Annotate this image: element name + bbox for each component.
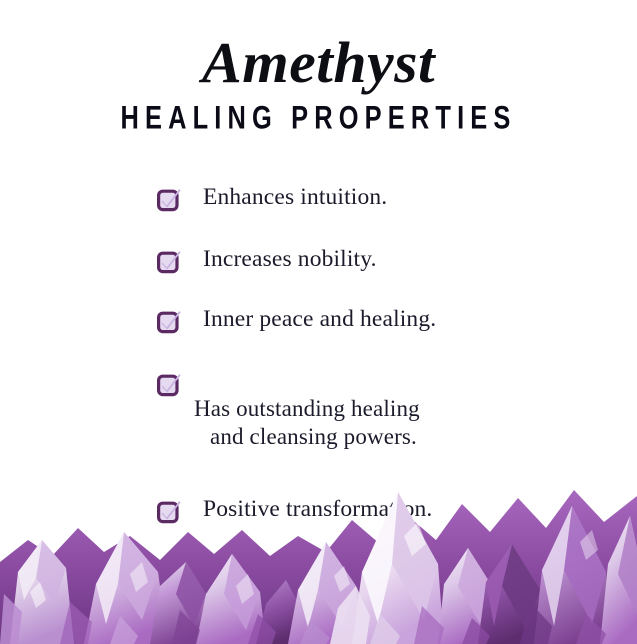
checked-checkbox-icon: [157, 372, 182, 397]
amethyst-crystal-cluster-photo: [0, 444, 637, 644]
checked-checkbox-icon: [157, 309, 182, 334]
page-subtitle: HEALING PROPERTIES: [57, 101, 579, 134]
list-item-label: Enhances intuition.: [203, 182, 387, 213]
list-item-label: Increases nobility.: [203, 244, 377, 275]
amethyst-healing-properties-poster: Amethyst HEALING PROPERTIES Enhances int…: [0, 0, 637, 644]
checked-checkbox-icon: [157, 187, 182, 212]
list-item: Increases nobility.: [0, 244, 637, 275]
list-item-label-line-1: Has outstanding healing: [194, 396, 420, 421]
list-item: Enhances intuition.: [0, 182, 637, 213]
poster-header: Amethyst HEALING PROPERTIES: [0, 0, 637, 133]
checked-checkbox-icon: [157, 249, 182, 274]
list-item-label: Inner peace and healing.: [203, 304, 436, 335]
list-item: Inner peace and healing.: [0, 304, 637, 335]
page-title: Amethyst: [0, 34, 637, 92]
